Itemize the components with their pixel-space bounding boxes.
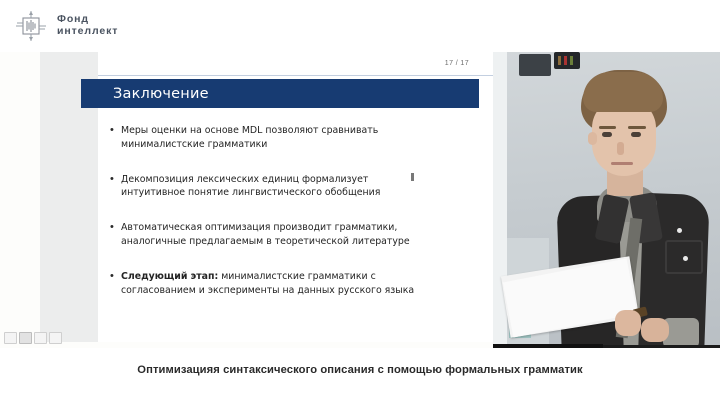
- screen-share-region: 17 / 17 Заключение • Меры оценки на осно…: [0, 52, 493, 348]
- bullet-dot-icon: •: [110, 270, 121, 298]
- slide-title: Заключение: [113, 86, 209, 102]
- brand-line-2: интеллект: [57, 26, 118, 38]
- bullet-dot-icon: •: [110, 173, 121, 201]
- view-single-button[interactable]: [4, 332, 17, 344]
- brand-logo: Фонд интеллект: [14, 9, 118, 43]
- bullet-lead: Следующий этап:: [121, 271, 218, 282]
- screenshot-root: Фонд интеллект 17 / 17 Заключение • М: [0, 0, 720, 405]
- bullet-line: согласованием и эксперименты на данных р…: [121, 285, 414, 296]
- bullet-text: Автоматическая оптимизация производит гр…: [121, 221, 410, 249]
- bullet-text: Декомпозиция лексических единиц формализ…: [121, 173, 380, 201]
- meeting-stage: 17 / 17 Заключение • Меры оценки на осно…: [0, 52, 720, 348]
- bullet-line: Декомпозиция лексических единиц формализ…: [121, 174, 368, 185]
- bullet-dot-icon: •: [110, 221, 121, 249]
- brand-logo-text: Фонд интеллект: [57, 14, 118, 38]
- list-item: • Следующий этап: минималистские граммат…: [110, 270, 470, 298]
- header-rule: [98, 75, 493, 76]
- view-fit-button[interactable]: [34, 332, 47, 344]
- talk-title-caption: Оптимизацияя синтаксического описания с …: [0, 364, 720, 376]
- list-item: • Автоматическая оптимизация производит …: [110, 221, 470, 249]
- list-item: • Меры оценки на основе MDL позволяют ср…: [110, 124, 470, 152]
- view-grid-button[interactable]: [19, 332, 32, 344]
- presenter-figure: [537, 70, 720, 348]
- page-indicator: 17 / 17: [445, 60, 469, 67]
- slide-bullet-list: • Меры оценки на основе MDL позволяют ср…: [110, 124, 470, 318]
- bullet-line: интуитивное понятие лингвистического обо…: [121, 187, 380, 198]
- slide-title-bar: Заключение: [81, 79, 479, 108]
- bullet-line: Автоматическая оптимизация производит гр…: [121, 222, 397, 233]
- chip-waveform-icon: [14, 9, 48, 43]
- header-logo-band: Фонд интеллект: [0, 0, 720, 52]
- wall-object-shelf: [554, 52, 580, 69]
- bullet-line: минималистские грамматики: [121, 139, 267, 150]
- bullet-text: Следующий этап: минималистские грамматик…: [121, 270, 414, 298]
- bullet-text: Меры оценки на основе MDL позволяют срав…: [121, 124, 378, 152]
- text-cursor-icon: [411, 173, 414, 181]
- view-full-button[interactable]: [49, 332, 62, 344]
- list-item: • Декомпозиция лексических единиц формал…: [110, 173, 470, 201]
- bullet-line: аналогичные предлагаемым в теоретической…: [121, 236, 410, 247]
- viewer-toolbar: [4, 332, 62, 344]
- presenter-video-tile[interactable]: [493, 52, 720, 348]
- bullet-dot-icon: •: [110, 124, 121, 152]
- caption-band: Оптимизацияя синтаксического описания с …: [0, 348, 720, 405]
- bullet-line: Меры оценки на основе MDL позволяют срав…: [121, 125, 378, 136]
- bullet-line: минималистские грамматики с: [218, 271, 376, 282]
- slide-document[interactable]: 17 / 17 Заключение • Меры оценки на осно…: [98, 52, 493, 342]
